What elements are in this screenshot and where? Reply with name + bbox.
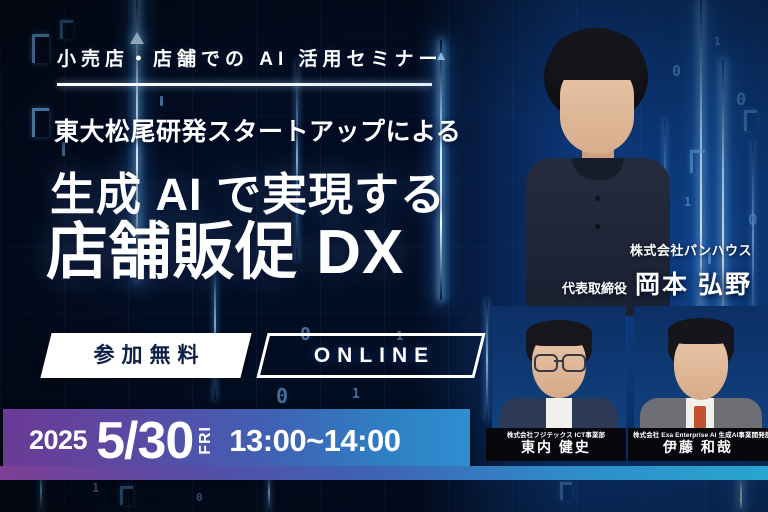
title-line-2: 店舗販促 DX [46,222,404,284]
seminar-banner: 0 1 0 1 0 0 1 0 1 1 0 0 1 0 [0,0,768,512]
glasses-icon [534,354,558,372]
photo-button [595,224,600,229]
speaker-1-org: 株式会社フジテックス ICT事業部 [491,432,621,439]
kicker-text: 小売店・店舗での AI 活用セミナー [57,44,443,71]
photo-button [595,196,600,201]
schedule-day: 5/30 [96,415,193,467]
badge-free-label: 参加無料 [46,333,246,378]
badge-online-label: ONLINE [265,336,477,375]
glasses-icon [562,354,586,372]
main-speaker-role: 代表取締役 [562,278,627,297]
photo-fringe [548,32,644,80]
speaker-1-name: 東内 健史 [491,440,621,455]
main-speaker-caption: 株式会社パンハウス 代表取締役 岡本 弘野 [562,240,752,301]
main-speaker-name: 岡本 弘野 [635,265,752,301]
speaker-caption-2: 株式会社 Exa Enterprise AI 生成AI事業開発部 伊藤 和哉 [628,428,768,461]
schedule-time: 13:00~14:00 [229,423,400,459]
speaker-2-org: 株式会社 Exa Enterprise AI 生成AI事業開発部 [633,432,763,439]
title-line-1: 生成 AI で実現する [50,158,446,223]
kicker-underline [57,83,432,86]
speaker-photo-2 [634,306,768,436]
badge-free: 参加無料 [40,333,251,378]
bottom-accent-bar [0,466,768,480]
schedule-dayofweek: FRI [197,426,215,455]
photo-fringe [526,320,592,346]
badge-online: ONLINE [256,333,485,378]
speaker-caption-1: 株式会社フジテックス ICT事業部 東内 健史 [486,428,626,461]
schedule-year: 2025 [29,425,87,456]
main-speaker-org: 株式会社パンハウス [562,240,752,259]
speaker-2-name: 伊藤 和哉 [633,440,763,455]
schedule-bar: 2025 5/30 FRI 13:00~14:00 [3,409,470,472]
glasses-bridge [554,360,562,362]
lead-text: 東大松尾研発スタートアップによる [54,112,461,148]
speaker-photo-1 [492,306,626,436]
photo-fringe [668,318,734,344]
